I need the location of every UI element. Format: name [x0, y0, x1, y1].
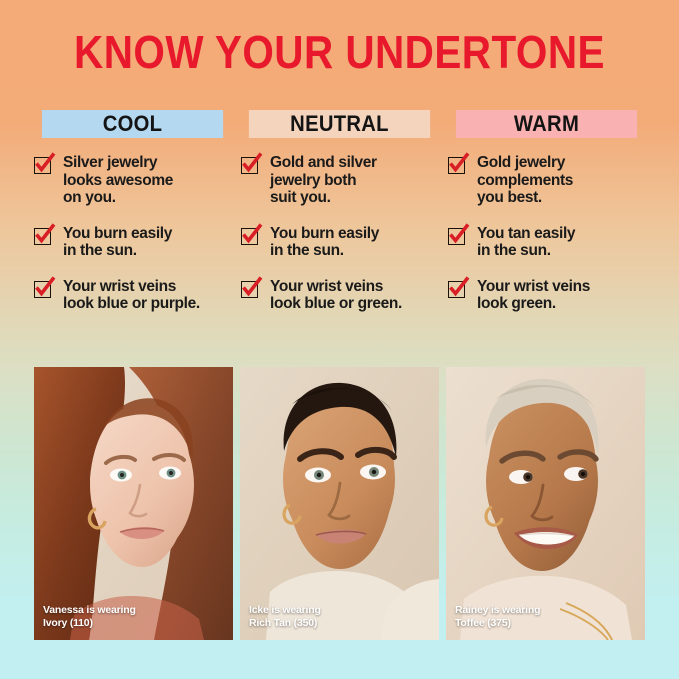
checklist-item: You burn easily in the sun. [241, 225, 438, 260]
undertone-infographic: KNOW YOUR UNDERTONE COOL Silver jewelry … [0, 0, 679, 679]
checkbox-checked-icon [34, 226, 55, 247]
model-photo-cool: Vanessa is wearing Ivory (110) [34, 367, 233, 640]
checklist-warm: Gold jewelry complements you best. You t… [448, 154, 645, 313]
column-header-cool: COOL [42, 110, 223, 138]
undertone-column-cool: COOL Silver jewelry looks awesome on you… [34, 110, 231, 313]
checklist-item: Gold jewelry complements you best. [448, 154, 645, 207]
checkbox-checked-icon [241, 155, 262, 176]
undertone-column-warm: WARM Gold jewelry complements you best. … [448, 110, 645, 313]
photo-caption-cool: Vanessa is wearing Ivory (110) [43, 604, 136, 629]
portrait-cool-undertone-image [34, 367, 233, 640]
model-photo-row: Vanessa is wearing Ivory (110) [34, 367, 645, 640]
checklist-item-text: You tan easily in the sun. [477, 225, 575, 260]
checklist-item-text: You burn easily in the sun. [270, 225, 379, 260]
checklist-item: Silver jewelry looks awesome on you. [34, 154, 231, 207]
checklist-item: Your wrist veins look blue or purple. [34, 278, 231, 313]
checkbox-checked-icon [241, 226, 262, 247]
model-photo-neutral: Icke is wearing Rich Tan (350) [240, 367, 439, 640]
checklist-item: You burn easily in the sun. [34, 225, 231, 260]
checkbox-checked-icon [34, 279, 55, 300]
checkbox-checked-icon [448, 226, 469, 247]
checklist-item-text: Gold jewelry complements you best. [477, 154, 573, 207]
checklist-item-text: Gold and silver jewelry both suit you. [270, 154, 377, 207]
undertone-columns: COOL Silver jewelry looks awesome on you… [34, 110, 645, 313]
checkbox-checked-icon [34, 155, 55, 176]
checkbox-checked-icon [448, 155, 469, 176]
photo-caption-neutral: Icke is wearing Rich Tan (350) [249, 604, 321, 629]
checklist-neutral: Gold and silver jewelry both suit you. Y… [241, 154, 438, 313]
column-header-warm-label: WARM [514, 113, 579, 135]
column-header-neutral: NEUTRAL [249, 110, 430, 138]
portrait-warm-undertone-image [446, 367, 645, 640]
checklist-item-text: Your wrist veins look blue or green. [270, 278, 402, 313]
column-header-neutral-label: NEUTRAL [290, 113, 389, 135]
checklist-item: You tan easily in the sun. [448, 225, 645, 260]
portrait-neutral-undertone-image [240, 367, 439, 640]
checklist-item-text: Your wrist veins look blue or purple. [63, 278, 200, 313]
checklist-cool: Silver jewelry looks awesome on you. You… [34, 154, 231, 313]
model-photo-warm: Rainey is wearing Toffee (375) [446, 367, 645, 640]
checklist-item: Your wrist veins look green. [448, 278, 645, 313]
checklist-item-text: Your wrist veins look green. [477, 278, 590, 313]
column-header-warm: WARM [456, 110, 637, 138]
checklist-item: Your wrist veins look blue or green. [241, 278, 438, 313]
checklist-item: Gold and silver jewelry both suit you. [241, 154, 438, 207]
photo-caption-warm: Rainey is wearing Toffee (375) [455, 604, 540, 629]
undertone-column-neutral: NEUTRAL Gold and silver jewelry both sui… [241, 110, 438, 313]
checkbox-checked-icon [448, 279, 469, 300]
checklist-item-text: You burn easily in the sun. [63, 225, 172, 260]
column-header-cool-label: COOL [103, 113, 163, 135]
checklist-item-text: Silver jewelry looks awesome on you. [63, 154, 173, 207]
checkbox-checked-icon [241, 279, 262, 300]
page-title: KNOW YOUR UNDERTONE [41, 28, 639, 76]
